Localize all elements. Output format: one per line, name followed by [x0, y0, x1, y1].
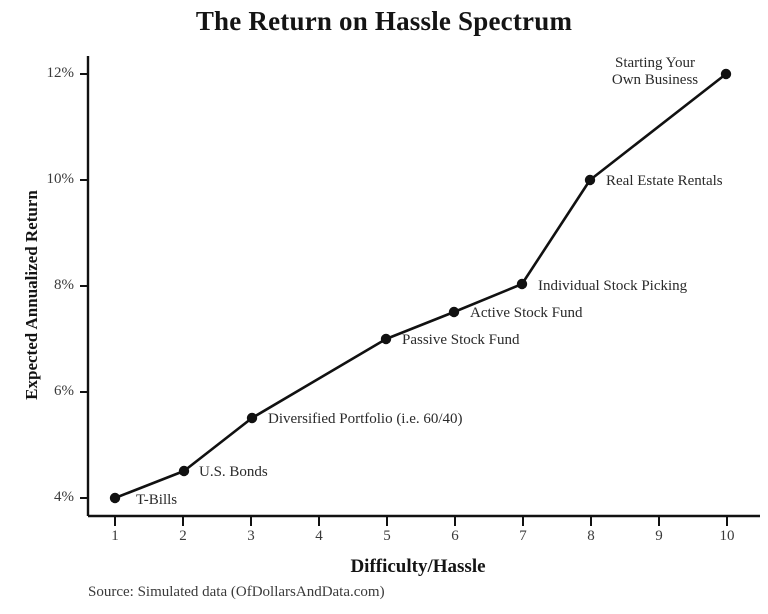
chart-figure: The Return on Hassle Spectrum — [0, 0, 768, 614]
x-axis-title: Difficulty/Hassle — [88, 556, 748, 578]
x-axis-tick-label: 5 — [362, 528, 412, 545]
x-axis-tick-label: 7 — [498, 528, 548, 545]
data-point-marker — [179, 466, 189, 476]
data-point-marker — [381, 334, 391, 344]
data-point-label: U.S. Bonds — [199, 464, 268, 481]
data-point-label: Individual Stock Picking — [538, 278, 687, 295]
data-point-marker — [585, 175, 595, 185]
data-point-label: Real Estate Rentals — [606, 173, 723, 190]
data-point-marker — [110, 493, 120, 503]
y-axis-title: Expected Annualized Return — [22, 145, 42, 445]
y-axis-tick-label: 4% — [20, 489, 74, 506]
data-point-label: Diversified Portfolio (i.e. 60/40) — [268, 411, 463, 428]
x-axis-tick-label: 10 — [702, 528, 752, 545]
data-point-marker — [721, 69, 731, 79]
x-axis-tick-label: 3 — [226, 528, 276, 545]
data-point-marker — [247, 413, 257, 423]
x-axis-tick-label: 9 — [634, 528, 684, 545]
data-point-label: Starting YourOwn Business — [590, 55, 720, 90]
x-axis-tick-label: 2 — [158, 528, 208, 545]
x-axis-tick-label: 6 — [430, 528, 480, 545]
data-point-marker — [449, 307, 459, 317]
x-axis-tick-label: 1 — [90, 528, 140, 545]
source-note: Source: Simulated data (OfDollarsAndData… — [88, 584, 385, 601]
data-point-label: T-Bills — [136, 492, 177, 509]
y-axis-tick-label: 12% — [20, 65, 74, 82]
data-point-marker — [517, 279, 527, 289]
plot-canvas — [0, 0, 768, 614]
data-point-label: Active Stock Fund — [470, 305, 583, 322]
x-axis-ticks — [115, 516, 727, 526]
x-axis-tick-label: 8 — [566, 528, 616, 545]
data-point-label: Passive Stock Fund — [402, 332, 520, 349]
x-axis-tick-label: 4 — [294, 528, 344, 545]
